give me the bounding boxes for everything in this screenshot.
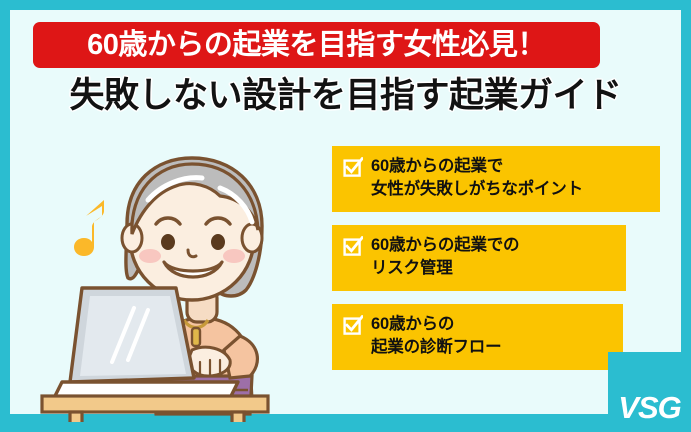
senior-woman-at-laptop-illustration: [24, 138, 324, 422]
music-note-icon: [74, 200, 104, 256]
checkbox-checked-icon: [343, 315, 363, 335]
bullet-item-3-text: 60歳からの 起業の診断フロー: [371, 313, 501, 360]
bullet-item-2: 60歳からの起業での リスク管理: [332, 225, 626, 291]
checkbox-checked-icon: [343, 157, 363, 177]
bullet-item-1-text: 60歳からの起業で 女性が失敗しがちなポイント: [371, 155, 583, 202]
eyebrow-banner-text: 60歳からの起業を目指す女性必見！: [87, 31, 546, 60]
eyebrow-banner: 60歳からの起業を目指す女性必見！: [33, 22, 600, 68]
page-title: 失敗しない設計を目指す起業ガイド: [0, 76, 691, 116]
vsg-logo-text: VSG: [618, 392, 680, 423]
bullet-item-1: 60歳からの起業で 女性が失敗しがちなポイント: [332, 146, 660, 212]
poster-frame: 60歳からの起業を目指す女性必見！ 失敗しない設計を目指す起業ガイド 60歳から…: [0, 0, 691, 432]
bullet-item-2-text: 60歳からの起業での リスク管理: [371, 234, 519, 281]
vsg-logo: VSG: [608, 352, 691, 432]
checkbox-checked-icon: [343, 236, 363, 256]
bullet-item-3: 60歳からの 起業の診断フロー: [332, 304, 623, 370]
bullet-list: 60歳からの起業で 女性が失敗しがちなポイント 60歳からの起業での リスク管理…: [332, 146, 672, 383]
